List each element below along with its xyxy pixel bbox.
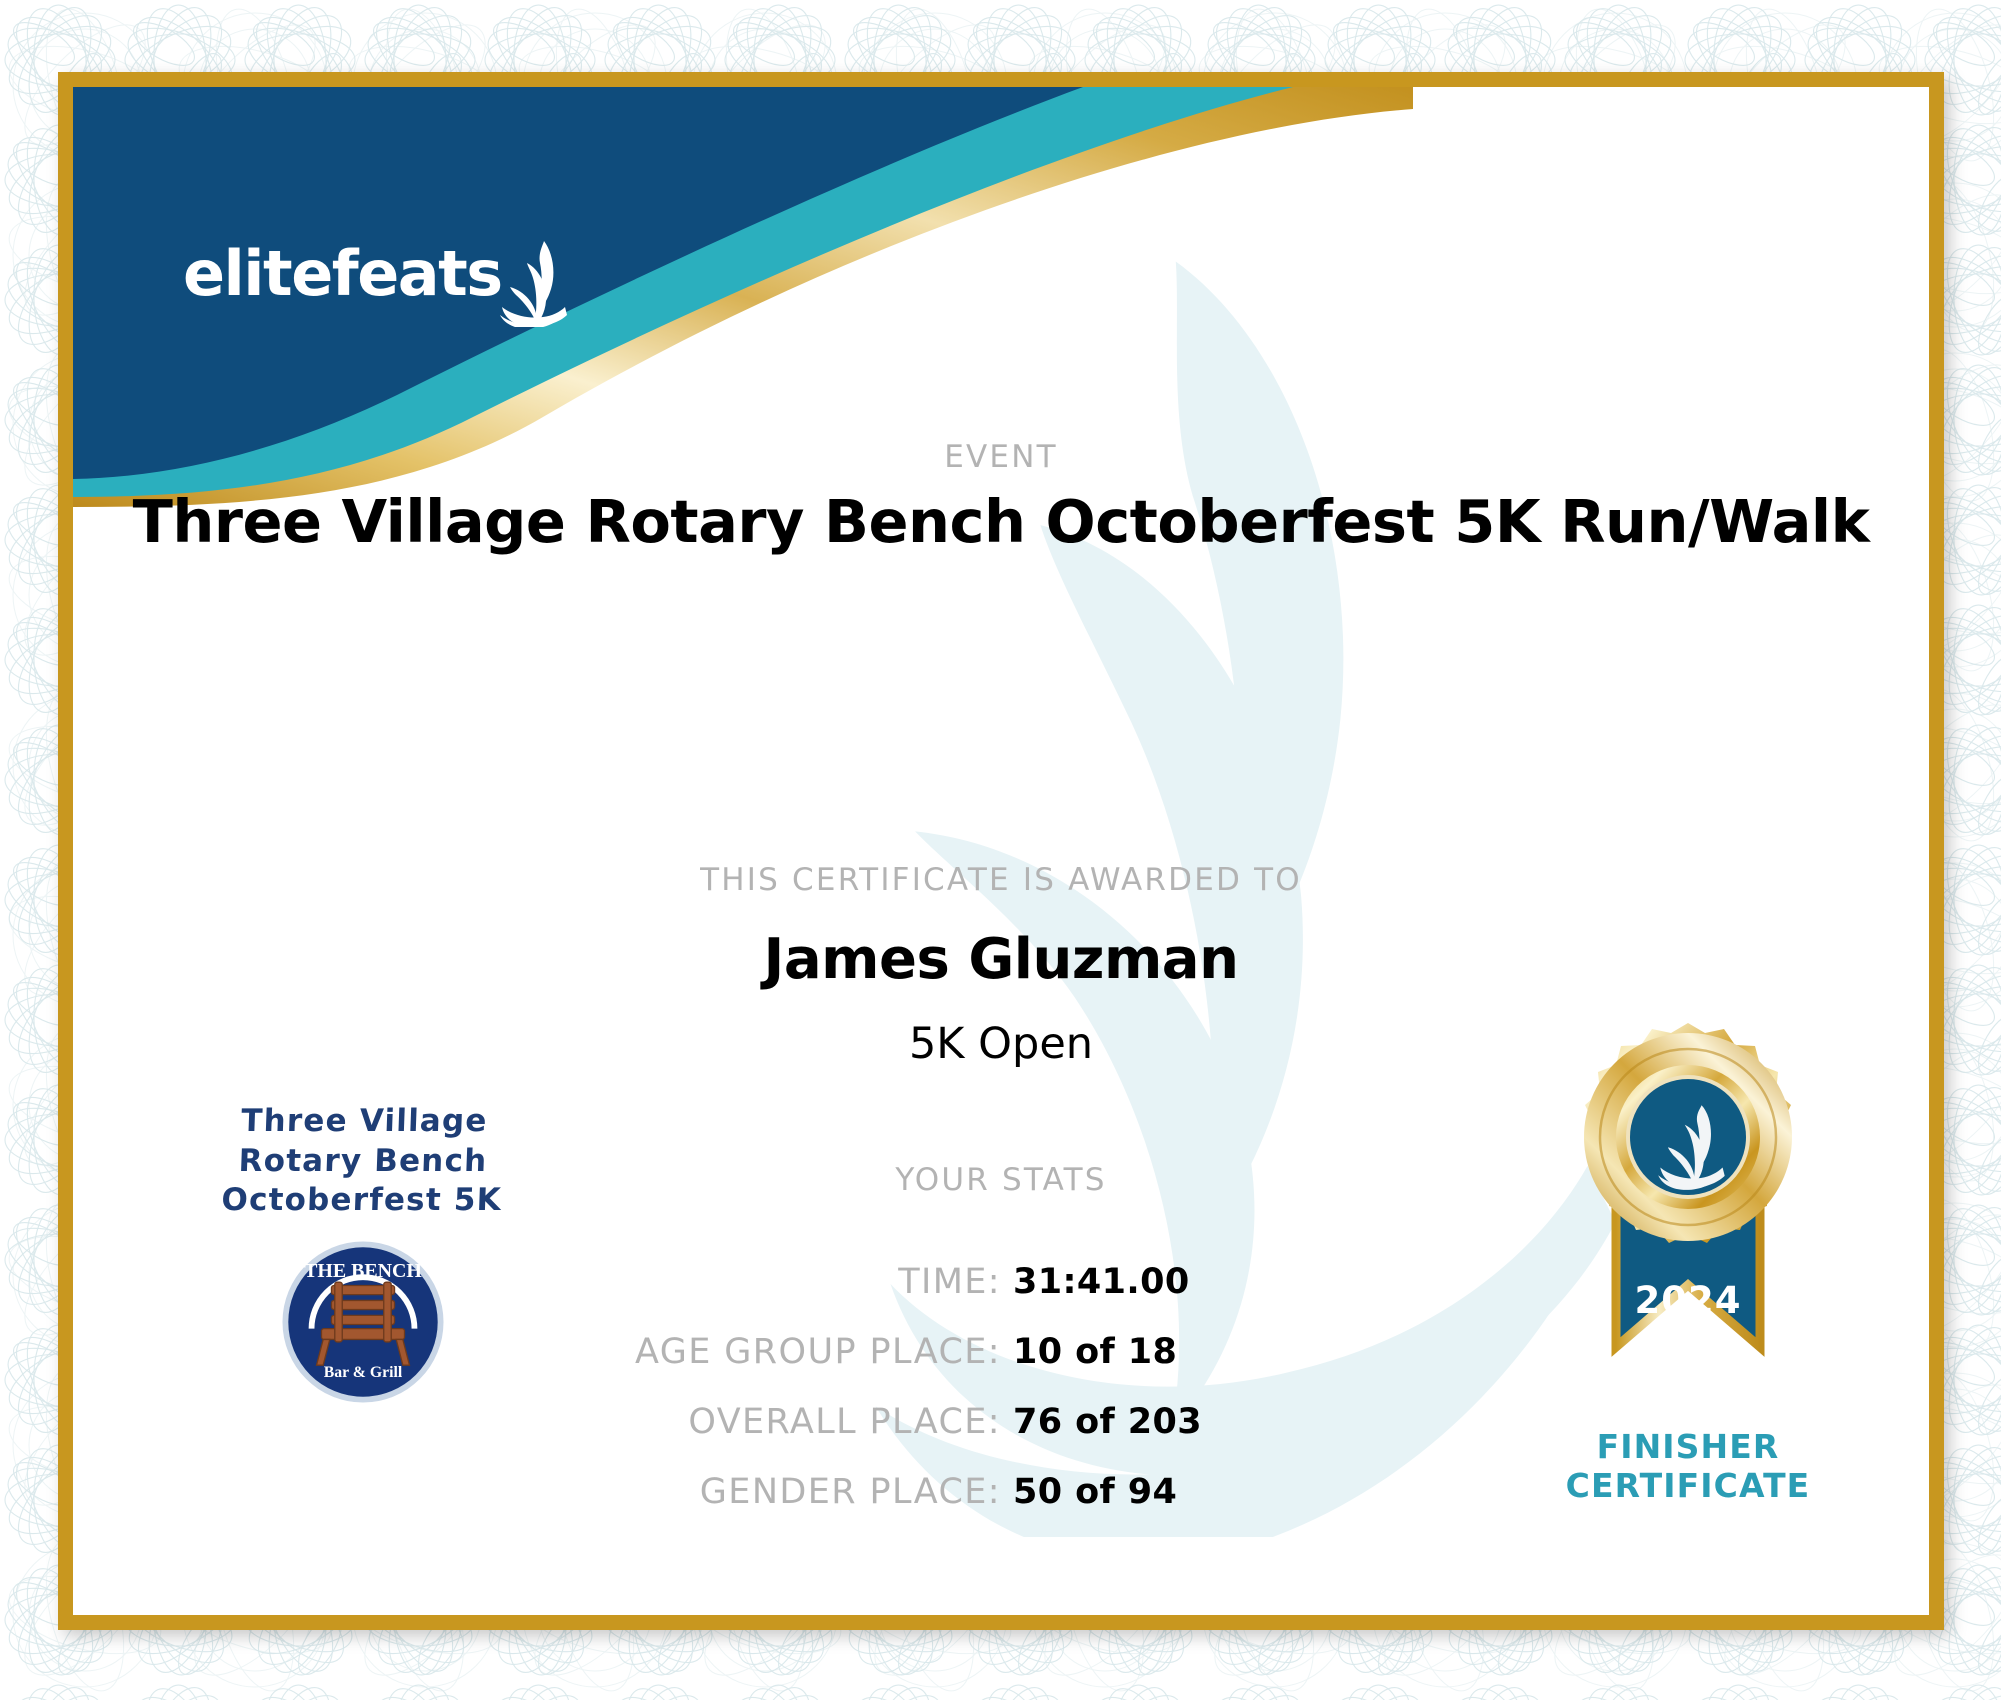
recipient-name: James Gluzman bbox=[73, 927, 1929, 992]
event-label: EVENT bbox=[73, 439, 1929, 475]
finisher-medal-block: 2024 FINISHER CERTIFICATE bbox=[1523, 1017, 1853, 1506]
race-logo-line1: Three Village bbox=[184, 1102, 545, 1142]
winged-foot-icon bbox=[496, 239, 568, 327]
awarded-to-label: THIS CERTIFICATE IS AWARDED TO bbox=[73, 862, 1929, 898]
race-logo-line2: Rotary Bench bbox=[182, 1142, 543, 1182]
brand-wordmark: elitefeats bbox=[183, 243, 502, 305]
stat-key: GENDER PLACE: bbox=[361, 1472, 1001, 1512]
event-title: Three Village Rotary Bench Octoberfest 5… bbox=[73, 487, 1929, 556]
bench-logo-top-text: THE BENCH bbox=[304, 1260, 422, 1282]
finisher-caption: FINISHER CERTIFICATE bbox=[1523, 1428, 1853, 1506]
race-logo-block: Three Village Rotary Bench Octoberfest 5… bbox=[183, 1102, 543, 1410]
race-logo-line3: Octoberfest 5K bbox=[181, 1181, 542, 1221]
finisher-caption-line2: CERTIFICATE bbox=[1523, 1467, 1853, 1506]
park-bench-icon: THE BENCH Bar & Grill bbox=[280, 1239, 446, 1405]
race-logo-title: Three Village Rotary Bench Octoberfest 5… bbox=[181, 1102, 545, 1221]
gold-rosette-icon: 2024 bbox=[1538, 1017, 1838, 1417]
medal-year: 2024 bbox=[1635, 1279, 1742, 1322]
brand-logo: elitefeats bbox=[183, 215, 568, 305]
certificate-page: elitefeats EVENT Three Village Rotary Be… bbox=[0, 0, 2001, 1700]
bench-logo-bottom-text: Bar & Grill bbox=[324, 1364, 403, 1381]
certificate-card: elitefeats EVENT Three Village Rotary Be… bbox=[58, 72, 1944, 1630]
finisher-caption-line1: FINISHER bbox=[1523, 1428, 1853, 1467]
